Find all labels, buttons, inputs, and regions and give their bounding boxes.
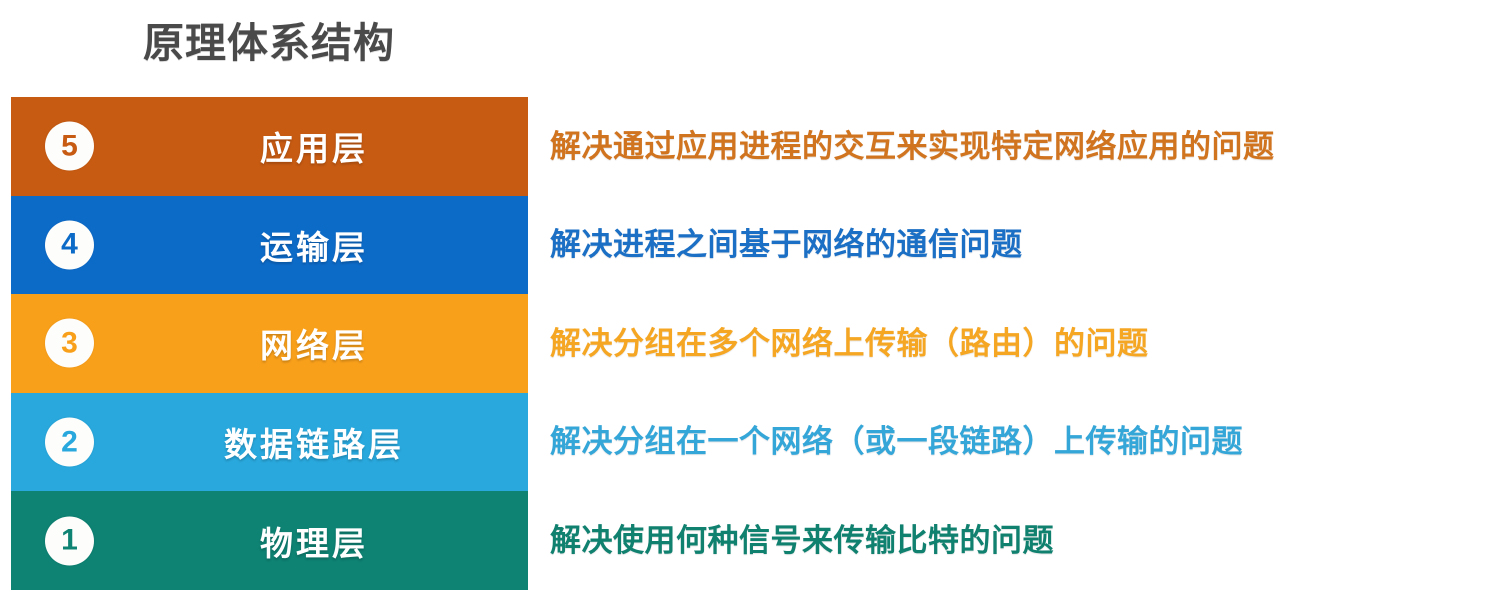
layer-name: 网络层 <box>116 319 512 367</box>
layer-description: 解决分组在一个网络（或一段链路）上传输的问题 <box>550 423 1243 460</box>
layer-bar: 5 应用层 <box>11 97 528 196</box>
layer-name: 运输层 <box>116 221 512 269</box>
layer-name: 应用层 <box>116 122 512 170</box>
layer-description-row: 解决进程之间基于网络的通信问题 <box>550 196 1490 295</box>
layer-number: 1 <box>61 526 78 556</box>
page-title: 原理体系结构 <box>143 18 395 69</box>
layer-number: 2 <box>61 427 78 457</box>
layer-description: 解决使用何种信号来传输比特的问题 <box>550 522 1054 559</box>
layer-bar: 2 数据链路层 <box>11 393 528 492</box>
layer-name: 物理层 <box>116 517 512 565</box>
layer-name: 数据链路层 <box>116 418 512 466</box>
layer-number: 4 <box>61 230 78 260</box>
layer-number-badge: 3 <box>45 319 94 368</box>
layer-description-row: 解决分组在多个网络上传输（路由）的问题 <box>550 294 1490 393</box>
layer-description-row: 解决通过应用进程的交互来实现特定网络应用的问题 <box>550 97 1490 196</box>
layer-number-badge: 1 <box>45 516 94 565</box>
layer-description: 解决通过应用进程的交互来实现特定网络应用的问题 <box>550 128 1275 165</box>
layer-description-row: 解决分组在一个网络（或一段链路）上传输的问题 <box>550 393 1490 492</box>
layer-bar: 4 运输层 <box>11 196 528 295</box>
layer-bar: 3 网络层 <box>11 294 528 393</box>
slide-canvas: 原理体系结构 5 应用层 4 运输层 3 网络层 2 数据链路层 <box>0 0 1500 612</box>
layer-number: 3 <box>61 328 78 358</box>
layer-bar: 1 物理层 <box>11 491 528 590</box>
layer-description: 解决分组在多个网络上传输（路由）的问题 <box>550 325 1149 362</box>
layer-description-stack: 解决通过应用进程的交互来实现特定网络应用的问题 解决进程之间基于网络的通信问题 … <box>550 97 1490 590</box>
layer-stack: 5 应用层 4 运输层 3 网络层 2 数据链路层 1 物理层 <box>11 97 528 590</box>
layer-number: 5 <box>61 131 78 161</box>
layer-description: 解决进程之间基于网络的通信问题 <box>550 226 1023 263</box>
layer-number-badge: 4 <box>45 220 94 269</box>
layer-number-badge: 5 <box>45 122 94 171</box>
layer-number-badge: 2 <box>45 418 94 467</box>
layer-description-row: 解决使用何种信号来传输比特的问题 <box>550 491 1490 590</box>
